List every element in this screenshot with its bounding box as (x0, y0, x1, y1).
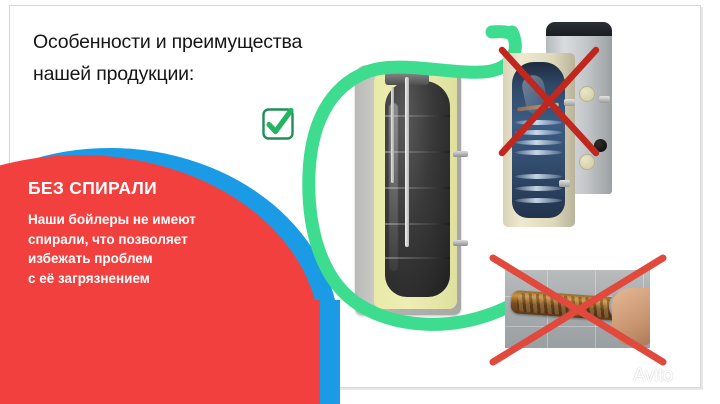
bad-boiler-image (503, 22, 613, 227)
hand-holding-element (612, 288, 650, 346)
avito-watermark: Avito (608, 363, 704, 389)
bad-boiler-front-nipple-lower (559, 180, 570, 187)
promo-block: БЕЗ СПИРАЛИ Наши бойлеры не имеют спирал… (28, 178, 278, 288)
screenshot-root: Особенности и преимущества нашей продукц… (0, 0, 720, 404)
check-mark-icon (261, 107, 295, 141)
bad-boiler-inspection-port (594, 139, 607, 152)
bad-boiler-front-body (503, 53, 575, 227)
bad-boiler-rear-top (546, 22, 612, 36)
boiler-inner-tank (385, 81, 450, 297)
bad-boiler-nipple (599, 96, 610, 103)
bad-boiler-front-nipple-upper (564, 99, 575, 106)
promo-body: Наши бойлеры не имеют спирали, что позво… (28, 210, 278, 288)
avito-logo-icon (608, 365, 630, 387)
boiler-port-upper (453, 151, 468, 157)
boiler-probe-rod (405, 77, 409, 247)
red-promo-shape-fill (0, 300, 320, 390)
main-boiler-image (355, 65, 461, 315)
bad-element-photo (505, 270, 650, 348)
promo-title: БЕЗ СПИРАЛИ (28, 178, 278, 199)
page-title: Особенности и преимущества нашей продукц… (33, 26, 403, 90)
bad-boiler-badge-upper (579, 86, 595, 102)
bad-boiler-tank (512, 62, 565, 218)
boiler-port-lower (453, 240, 468, 246)
boiler-secondary-rod (391, 87, 394, 183)
avito-wordmark: Avito (633, 365, 673, 387)
bad-boiler-badge-lower (579, 154, 595, 170)
